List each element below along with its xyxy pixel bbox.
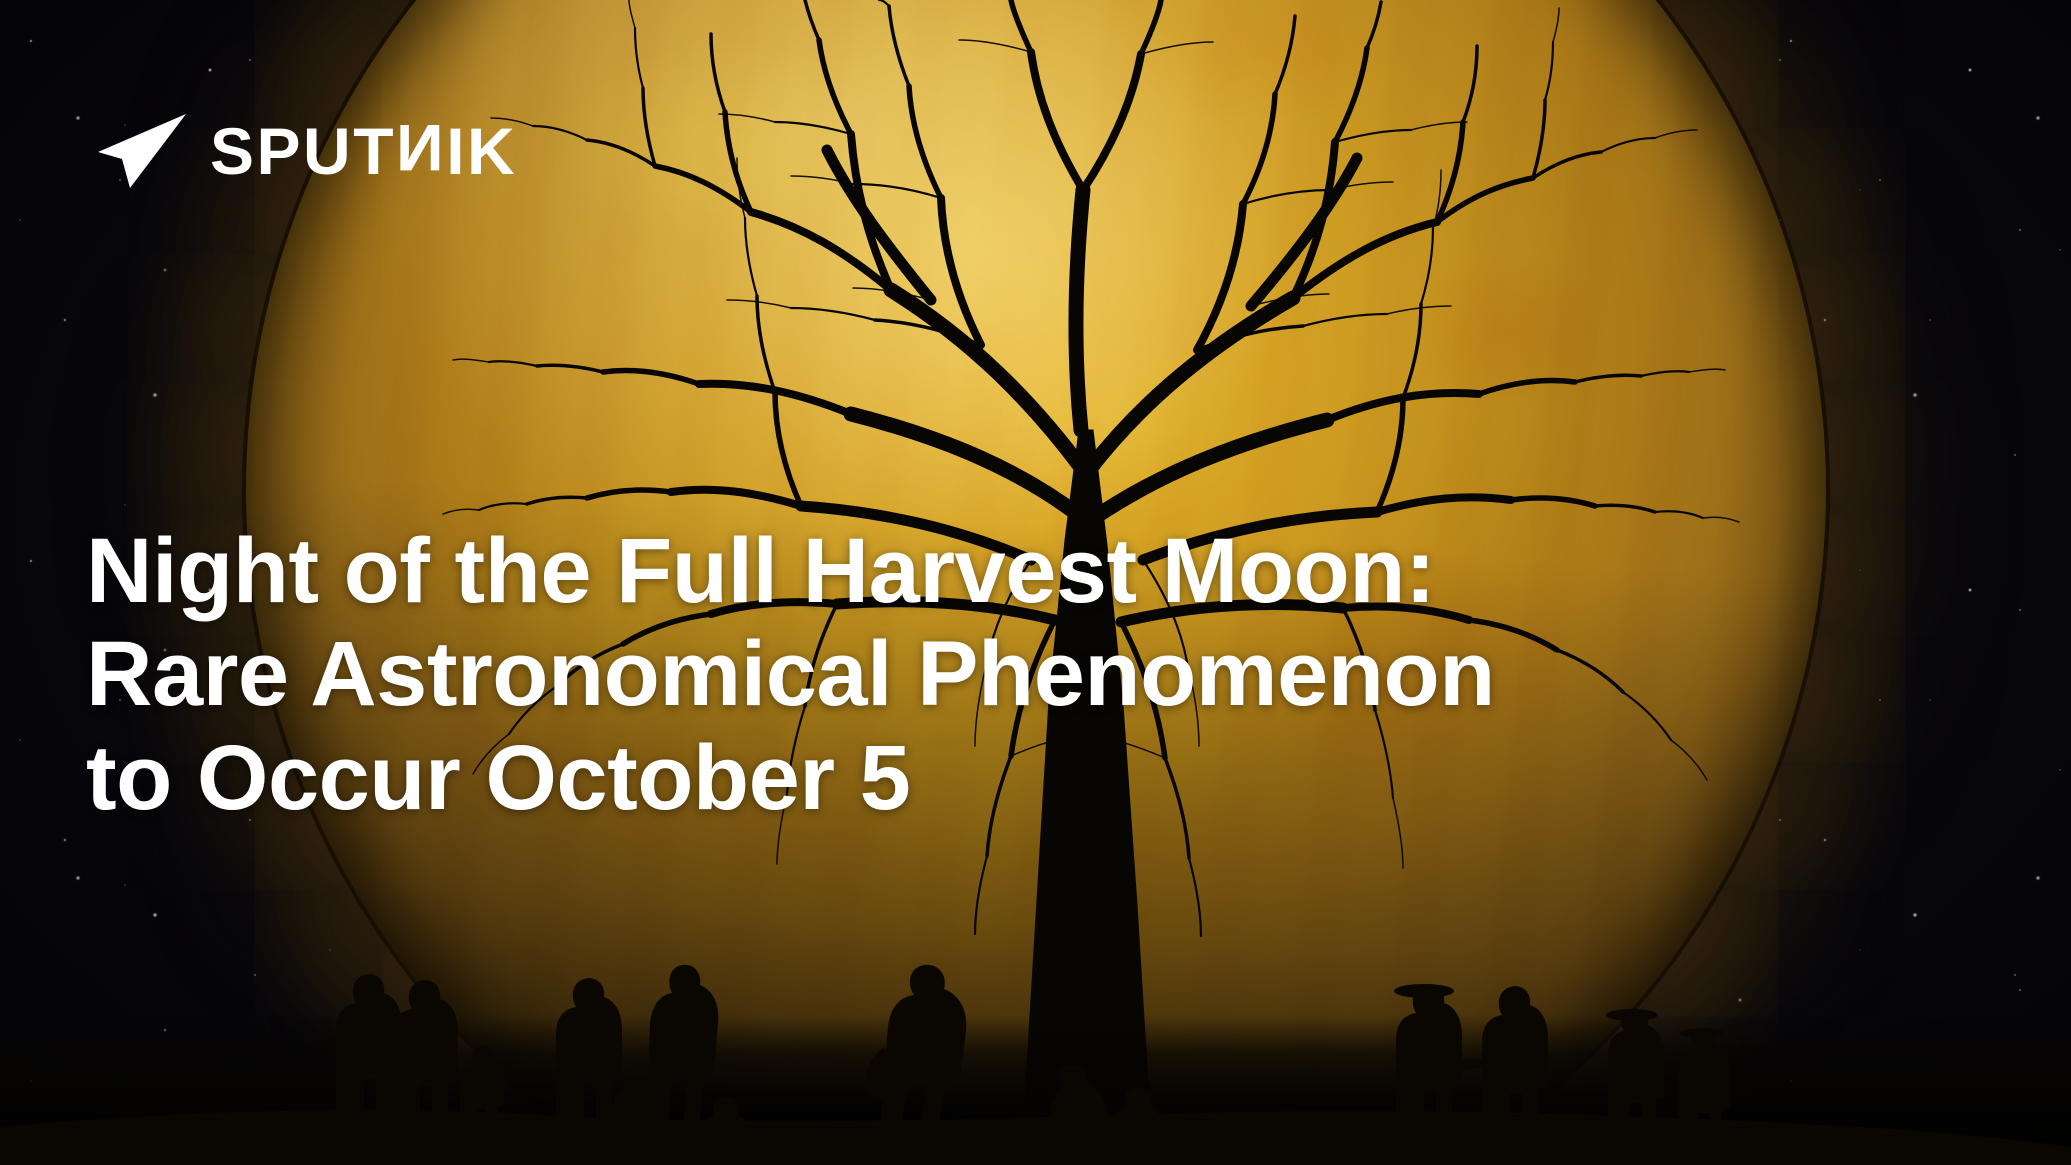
- logo-text-flipped-n: N: [396, 115, 446, 181]
- news-card: SPUTNIK Night of the Full Harvest Moon: …: [0, 0, 2071, 1165]
- logo-text-suffix: IK: [446, 118, 517, 184]
- sputnik-arrow-icon: [96, 112, 188, 190]
- logo-text-prefix: SPUT: [210, 118, 396, 184]
- sputnik-logo[interactable]: SPUTNIK: [96, 112, 517, 190]
- headline-line-1: Night of the Full Harvest Moon:: [86, 520, 1986, 624]
- sputnik-wordmark: SPUTNIK: [210, 118, 517, 184]
- headline-line-2: Rare Astronomical Phenomenon: [86, 623, 1986, 727]
- crowd-silhouettes: [0, 865, 2071, 1165]
- headline-line-3: to Occur October 5: [86, 727, 1986, 831]
- page-title: Night of the Full Harvest Moon: Rare Ast…: [86, 520, 1986, 832]
